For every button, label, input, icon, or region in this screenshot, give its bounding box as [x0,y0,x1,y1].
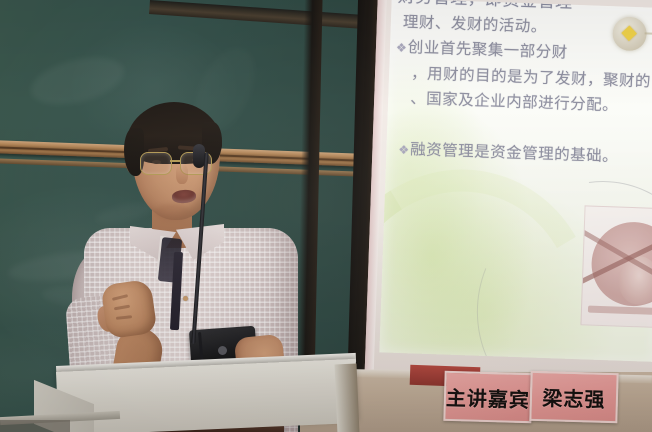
lectern [56,359,359,432]
speaker-title-sign-text: 主讲嘉宾 [446,381,531,412]
slide-line-last: 融资管理是资金管理的基础。 [410,140,619,165]
lectern-shadow [0,420,70,432]
slide-bullet-icon: ❖ [398,143,408,157]
shirt-button [183,296,188,301]
projection-screen: 财务管理，即资金管理 理财、发财的活动。 ❖创业首先聚集一部分财 ，用财的目的是… [364,0,652,390]
presentation-slide: 财务管理，即资金管理 理财、发财的活动。 ❖创业首先聚集一部分财 ，用财的目的是… [379,0,652,362]
chin-shadow [154,204,190,220]
blackboard-top-frame [149,0,389,31]
speaker-name-sign-text: 梁志强 [542,382,606,413]
slide-line-3: 创业首先聚集一部分财 [407,38,568,62]
slide-bullet-icon: ❖ [396,41,406,55]
speaker-title-sign: 主讲嘉宾 [443,371,532,423]
glasses-bridge [170,160,180,162]
banknote-text-bar [588,306,652,315]
lectern-right-edge [334,364,359,432]
speaker-name-sign: 梁志强 [529,371,618,423]
photograph-scene: 财务管理，即资金管理 理财、发财的活动。 ❖创业首先聚集一部分财 ，用财的目的是… [0,0,652,432]
raised-fist [100,279,157,339]
device-connector [218,346,227,355]
nose [176,164,188,184]
banknote-graphic [580,205,652,328]
slide-text-block: 财务管理，即资金管理 理财、发财的活动。 ❖创业首先聚集一部分财 ，用财的目的是… [392,0,652,174]
glasses-lens-left [140,152,172,175]
